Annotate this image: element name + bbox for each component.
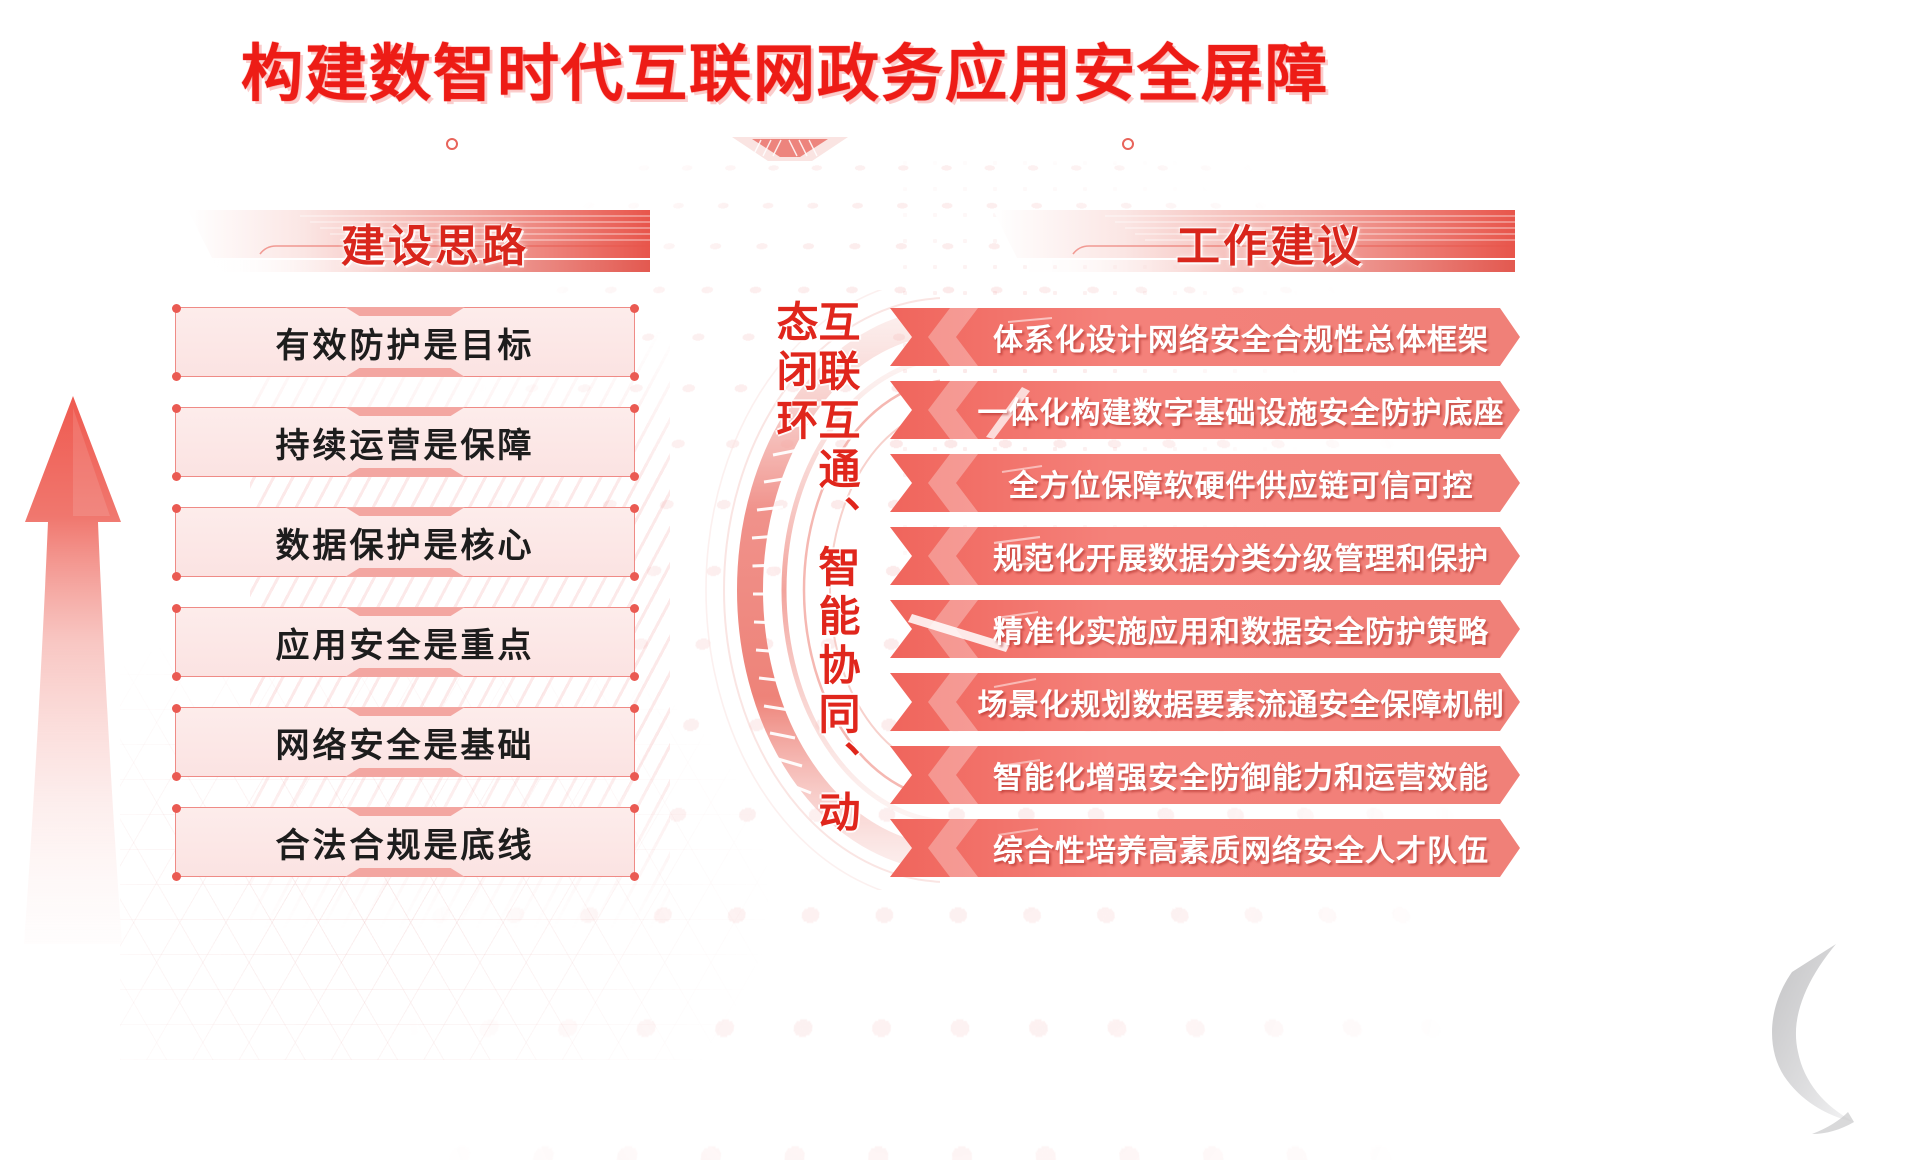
list-item[interactable]: 全方位保障软硬件供应链可信可控 — [890, 454, 1520, 512]
list-item[interactable]: 场景化规划数据要素流通安全保障机制 — [890, 673, 1520, 731]
infographic-canvas: 构建数智时代互联网政务应用安全屏障 — [0, 0, 1920, 1160]
list-item-label: 网络安全是基础 — [276, 718, 535, 767]
notch-bottom-icon — [345, 668, 465, 677]
notch-bottom-icon — [345, 768, 465, 777]
list-item[interactable]: 规范化开展数据分类分级管理和保护 — [890, 527, 1520, 585]
list-item[interactable]: 应用安全是重点 — [175, 607, 635, 677]
corner-dot-icon — [172, 504, 181, 513]
left-section-title: 建设思路 — [150, 202, 650, 282]
corner-dot-icon — [630, 572, 639, 581]
title-divider — [300, 133, 1280, 167]
right-section-title: 工作建议 — [955, 202, 1515, 282]
list-item[interactable]: 数据保护是核心 — [175, 507, 635, 577]
list-item-label: 一体化构建数字基础设施安全防护底座 — [980, 381, 1502, 439]
center-vertical-text: 互联互通、智能协同、动态闭环 — [795, 300, 857, 870]
corner-dot-icon — [630, 672, 639, 681]
corner-dot-icon — [172, 472, 181, 481]
list-item-label: 场景化规划数据要素流通安全保障机制 — [980, 673, 1502, 731]
list-item-label: 持续运营是保障 — [276, 418, 535, 467]
notch-top-icon — [345, 407, 465, 416]
list-item-label: 应用安全是重点 — [276, 618, 535, 667]
corner-dot-icon — [172, 872, 181, 881]
notch-bottom-icon — [345, 868, 465, 877]
right-items-list: 体系化设计网络安全合规性总体框架 一体化构建数字基础设施安全防护底座 全 — [890, 308, 1520, 892]
notch-top-icon — [345, 307, 465, 316]
list-item-label: 体系化设计网络安全合规性总体框架 — [980, 308, 1502, 366]
page-title: 构建数智时代互联网政务应用安全屏障 — [0, 42, 1570, 107]
list-item-label: 合法合规是底线 — [276, 818, 535, 867]
list-item-label: 规范化开展数据分类分级管理和保护 — [980, 527, 1502, 585]
list-item[interactable]: 体系化设计网络安全合规性总体框架 — [890, 308, 1520, 366]
list-item[interactable]: 精准化实施应用和数据安全防护策略 — [890, 600, 1520, 658]
list-item-label: 有效防护是目标 — [276, 318, 535, 367]
list-item[interactable]: 合法合规是底线 — [175, 807, 635, 877]
left-items-list: 有效防护是目标 持续运营是保障 数据保护是核心 应用 — [175, 307, 635, 907]
corner-dot-icon — [172, 704, 181, 713]
list-item-label: 全方位保障软硬件供应链可信可控 — [980, 454, 1502, 512]
notch-bottom-icon — [345, 568, 465, 577]
page-title-wrapper: 构建数智时代互联网政务应用安全屏障 — [0, 42, 1570, 107]
corner-dot-icon — [630, 804, 639, 813]
list-item[interactable]: 综合性培养高素质网络安全人才队伍 — [890, 819, 1520, 877]
corner-dot-icon — [630, 404, 639, 413]
corner-dot-icon — [172, 772, 181, 781]
notch-bottom-icon — [345, 468, 465, 477]
corner-dot-icon — [630, 372, 639, 381]
notch-bottom-icon — [345, 368, 465, 377]
upward-arrow-icon — [18, 390, 128, 950]
notch-top-icon — [345, 707, 465, 716]
list-item-label: 精准化实施应用和数据安全防护策略 — [980, 600, 1502, 658]
list-item[interactable]: 有效防护是目标 — [175, 307, 635, 377]
corner-dot-icon — [172, 404, 181, 413]
corner-dot-icon — [630, 504, 639, 513]
notch-top-icon — [345, 507, 465, 516]
list-item[interactable]: 网络安全是基础 — [175, 707, 635, 777]
corner-dot-icon — [172, 572, 181, 581]
left-section-header: 建设思路 — [150, 202, 650, 282]
swoosh-decoration — [1640, 940, 1900, 1140]
corner-dot-icon — [630, 604, 639, 613]
corner-dot-icon — [630, 704, 639, 713]
corner-dot-icon — [630, 304, 639, 313]
corner-dot-icon — [630, 872, 639, 881]
corner-dot-icon — [630, 472, 639, 481]
list-item-label: 数据保护是核心 — [276, 518, 535, 567]
list-item-label: 智能化增强安全防御能力和运营效能 — [980, 746, 1502, 804]
notch-top-icon — [345, 607, 465, 616]
right-section-header: 工作建议 — [955, 202, 1515, 282]
corner-dot-icon — [172, 604, 181, 613]
list-item[interactable]: 一体化构建数字基础设施安全防护底座 — [890, 381, 1520, 439]
corner-dot-icon — [630, 772, 639, 781]
list-item[interactable]: 智能化增强安全防御能力和运营效能 — [890, 746, 1520, 804]
corner-dot-icon — [172, 304, 181, 313]
corner-dot-icon — [172, 804, 181, 813]
list-item-label: 综合性培养高素质网络安全人才队伍 — [980, 819, 1502, 877]
corner-dot-icon — [172, 372, 181, 381]
list-item[interactable]: 持续运营是保障 — [175, 407, 635, 477]
corner-dot-icon — [172, 672, 181, 681]
notch-top-icon — [345, 807, 465, 816]
